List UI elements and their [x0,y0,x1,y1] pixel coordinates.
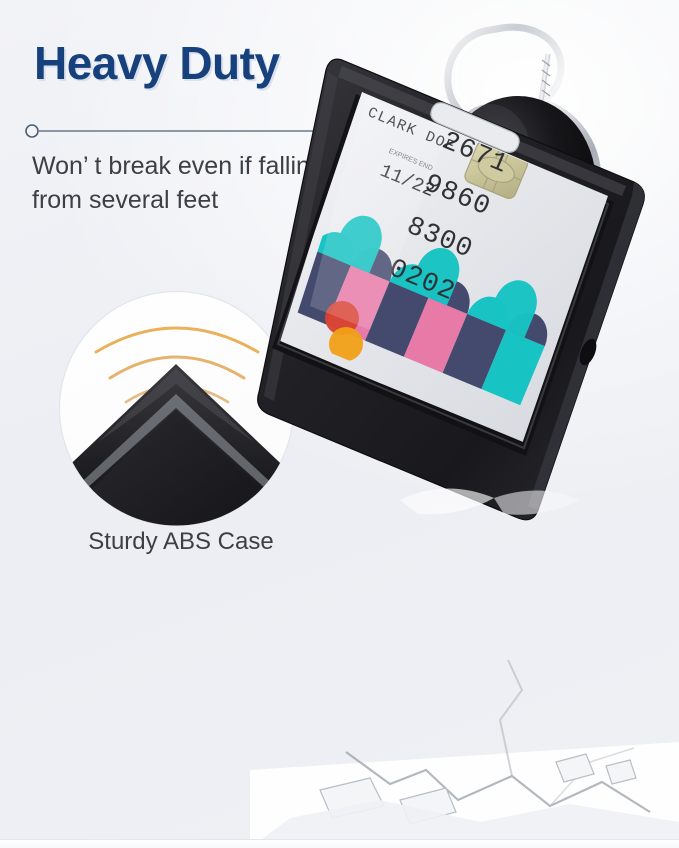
product-illustration: 2671 9860 8300 0202 EXPIRES END 11/22 CL… [250,0,679,848]
badge-holder: 2671 9860 8300 0202 EXPIRES END 11/22 CL… [258,59,645,520]
circle-marker-icon [26,125,38,137]
page-title: Heavy Duty [34,36,280,90]
cracked-floor [250,660,679,848]
product-marketing-image: Heavy Duty Won’ t break even if falling … [0,0,679,848]
